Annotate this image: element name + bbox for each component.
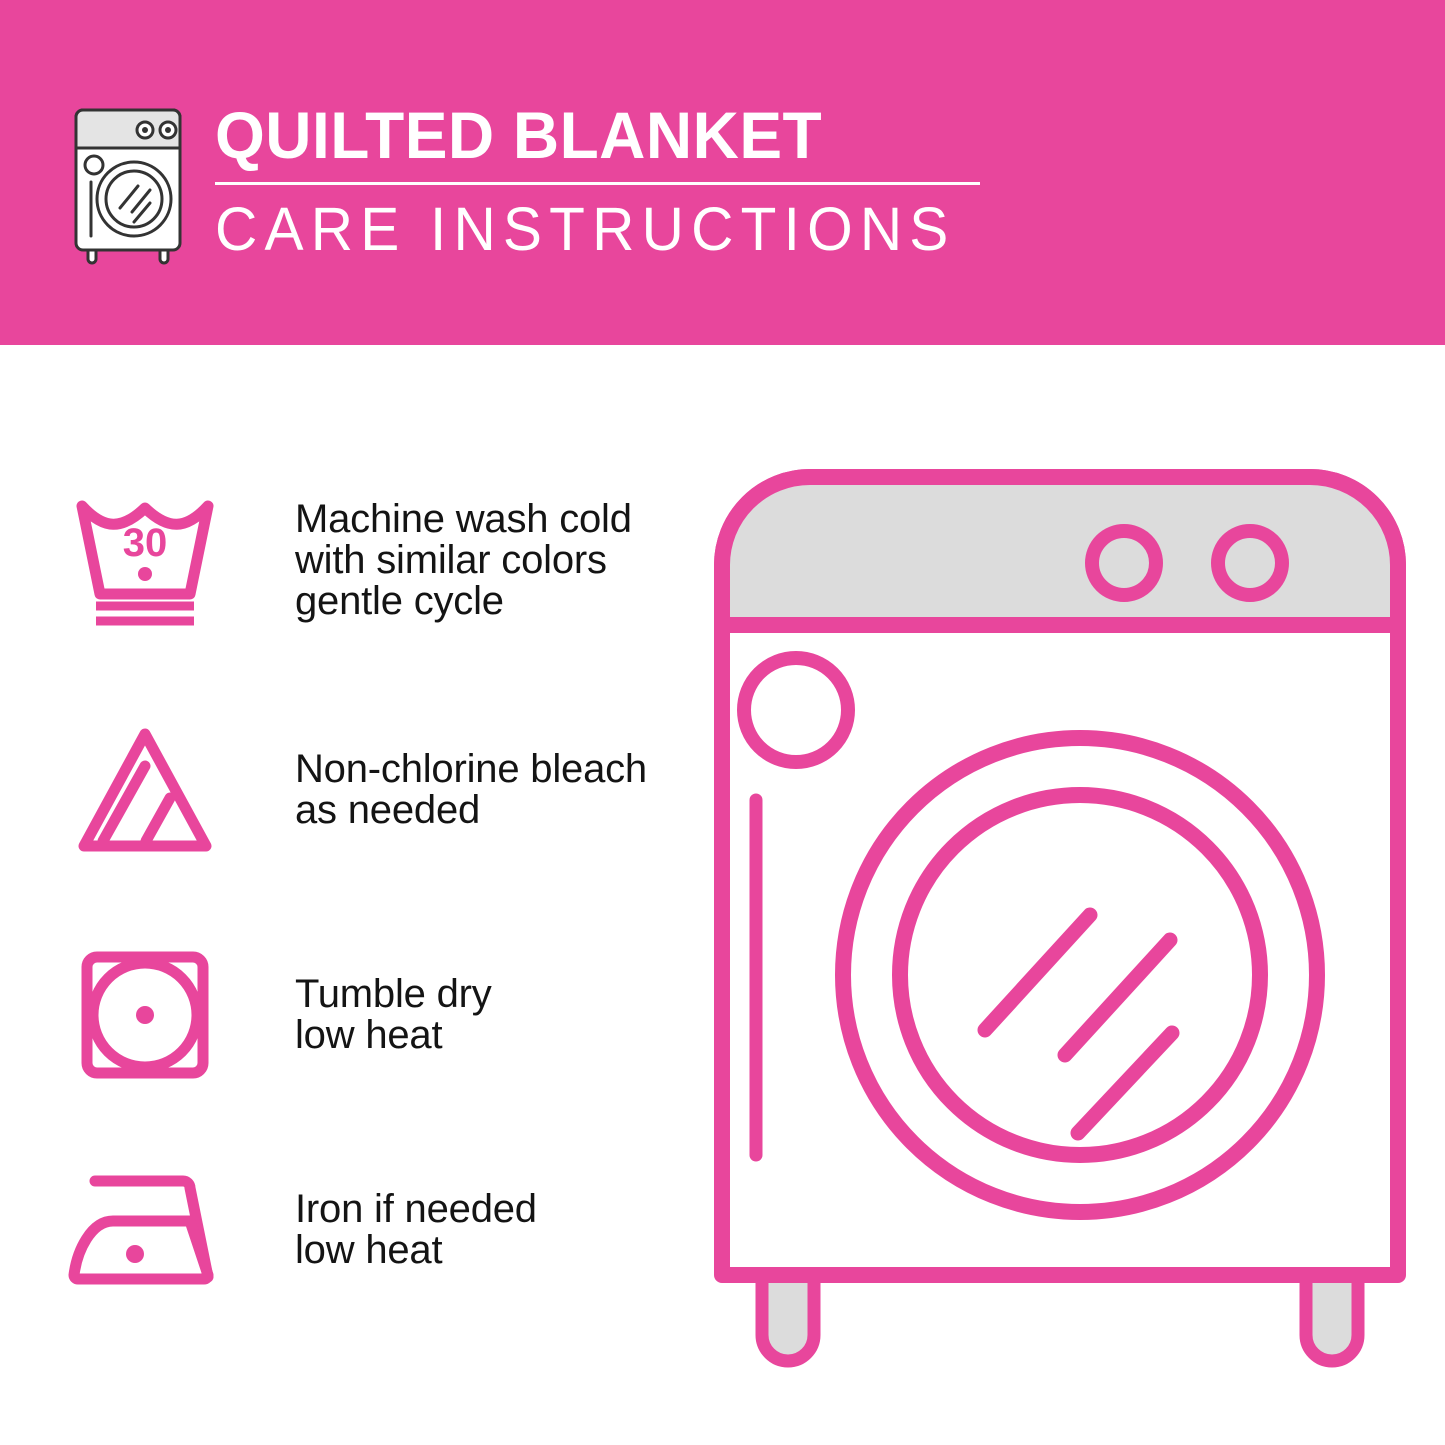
care-text-line: low heat: [295, 1230, 537, 1271]
care-text: Non-chlorine bleach as needed: [295, 749, 647, 831]
iron-low-heat-icon: [55, 1165, 235, 1295]
care-text-line: Machine wash cold: [295, 499, 632, 540]
care-text: Iron if needed low heat: [295, 1189, 537, 1271]
page-title: QUILTED BLANKET: [215, 98, 963, 172]
machine-wash-30-icon: 30: [55, 490, 235, 630]
control-knob-1: [1092, 531, 1156, 595]
header-content: QUILTED BLANKET CARE INSTRUCTIONS: [60, 96, 986, 265]
machine-control-panel: [722, 477, 1398, 625]
tumble-dry-low-icon: [55, 945, 235, 1085]
machine-leg-right: [1306, 1273, 1358, 1361]
care-text-line: gentle cycle: [295, 581, 632, 622]
care-text-line: as needed: [295, 790, 647, 831]
title-divider: [215, 182, 980, 185]
header-title-block: QUILTED BLANKET CARE INSTRUCTIONS: [215, 96, 986, 264]
care-text-line: Non-chlorine bleach: [295, 749, 647, 790]
care-text: Machine wash cold with similar colors ge…: [295, 499, 632, 622]
door-inner-ring: [900, 795, 1260, 1155]
care-text: Tumble dry low heat: [295, 974, 492, 1056]
care-row: Tumble dry low heat: [0, 945, 700, 1085]
wash-temperature-label: 30: [123, 521, 168, 565]
care-text-line: low heat: [295, 1015, 492, 1056]
control-knob-2: [1218, 531, 1282, 595]
dispenser-indicator-icon: [744, 658, 848, 762]
washing-machine-icon: [60, 100, 195, 265]
page-header: QUILTED BLANKET CARE INSTRUCTIONS: [0, 0, 1445, 345]
care-instructions-list: 30 Machine wash cold with similar colors…: [0, 345, 700, 1445]
care-text-line: Iron if needed: [295, 1189, 537, 1230]
care-text-line: with similar colors: [295, 540, 632, 581]
page-subtitle: CARE INSTRUCTIONS: [215, 194, 956, 264]
care-row: Iron if needed low heat: [0, 1165, 700, 1295]
care-row: 30 Machine wash cold with similar colors…: [0, 490, 700, 630]
machine-leg-left: [762, 1273, 814, 1361]
non-chlorine-bleach-triangle-icon: [55, 720, 235, 860]
large-washing-machine-illustration: [700, 455, 1420, 1375]
care-row: Non-chlorine bleach as needed: [0, 720, 700, 860]
care-text-line: Tumble dry: [295, 974, 492, 1015]
